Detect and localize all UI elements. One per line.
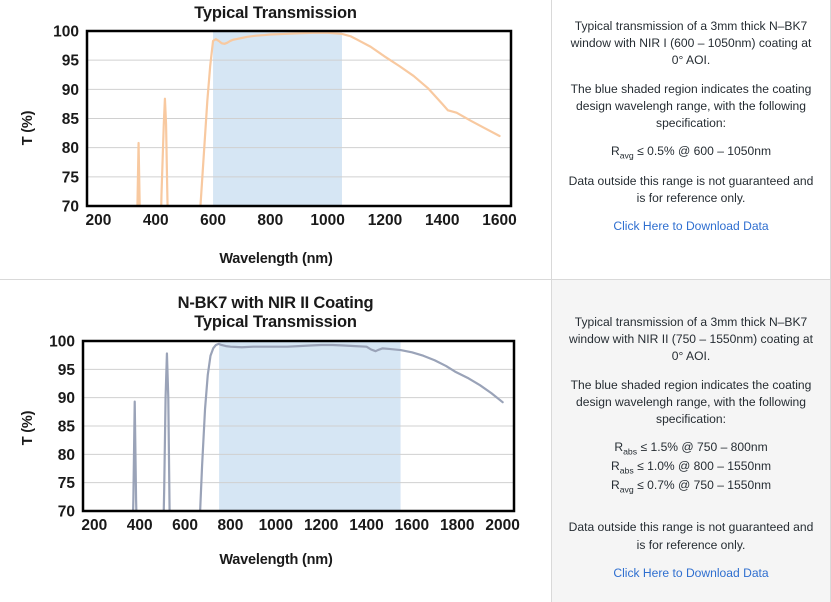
- x-tick-label: 400: [143, 212, 169, 229]
- spec-subscript: abs: [620, 465, 634, 475]
- chart-title-nir2: N-BK7 with NIR II Coating Typical Transm…: [0, 280, 551, 333]
- x-tick-label: 400: [127, 517, 153, 534]
- y-tick-label: 70: [62, 199, 79, 216]
- x-tick-label: 800: [257, 212, 283, 229]
- spec-value: ≤ 1.5% @ 750 – 800nm: [637, 440, 768, 454]
- chart-nir2: 7075808590951002004006008001000120014001…: [0, 333, 552, 548]
- chart-title-nir1: Typical Transmission: [0, 0, 551, 23]
- spec-line: Ravg ≤ 0.5% @ 600 – 1050nm: [566, 143, 816, 162]
- description-cell-nir2: Typical transmission of a 3mm thick N–BK…: [552, 280, 831, 602]
- x-tick-label: 800: [218, 517, 244, 534]
- spec-line: Rabs ≤ 1.0% @ 800 – 1550nm: [566, 458, 816, 477]
- download-data-link-nir2[interactable]: Click Here to Download Data: [566, 565, 816, 582]
- spec-symbol: R: [611, 478, 620, 492]
- y-tick-label: 100: [53, 24, 79, 41]
- y-tick-label: 70: [58, 503, 75, 520]
- description-paragraph-1: Typical transmission of a 3mm thick N–BK…: [566, 18, 816, 70]
- chart-nir1: 7075808590951002004006008001000120014001…: [0, 23, 552, 238]
- y-axis-label-nir2: T (%): [20, 398, 36, 458]
- description-block-nir2: Typical transmission of a 3mm thick N–BK…: [566, 280, 816, 582]
- x-tick-label: 200: [81, 517, 107, 534]
- chart-title-line-1: N-BK7 with NIR II Coating: [0, 294, 551, 313]
- x-tick-label: 2000: [485, 517, 519, 534]
- x-tick-label: 1200: [304, 517, 338, 534]
- x-tick-label: 1600: [482, 212, 516, 229]
- spec-line: Rabs ≤ 1.5% @ 750 – 800nm: [566, 439, 816, 458]
- description-cell-nir1: Typical transmission of a 3mm thick N–BK…: [552, 0, 831, 279]
- description-block-nir1: Typical transmission of a 3mm thick N–BK…: [566, 0, 816, 235]
- panel-row-nir1: Typical Transmission 7075808590951002004…: [0, 0, 831, 280]
- y-axis-label-nir1: T (%): [20, 98, 36, 158]
- spec-symbol: R: [611, 144, 620, 158]
- description-paragraph-2: The blue shaded region indicates the coa…: [566, 377, 816, 429]
- spec-list-nir1: Ravg ≤ 0.5% @ 600 – 1050nm: [566, 143, 816, 162]
- y-tick-label: 85: [58, 418, 76, 435]
- spec-subscript: avg: [620, 484, 634, 494]
- x-tick-label: 1000: [310, 212, 344, 229]
- chart-cell-nir1: Typical Transmission 7075808590951002004…: [0, 0, 552, 279]
- plot-wrap-nir2: 7075808590951002004006008001000120014001…: [0, 333, 551, 553]
- y-tick-label: 95: [62, 53, 80, 70]
- description-paragraph-3: Data outside this range is not guarantee…: [566, 173, 816, 207]
- description-paragraph-1: Typical transmission of a 3mm thick N–BK…: [566, 314, 816, 366]
- spec-symbol: R: [614, 440, 623, 454]
- x-tick-label: 1800: [440, 517, 474, 534]
- x-tick-label: 600: [200, 212, 226, 229]
- spec-list-nir2: Rabs ≤ 1.5% @ 750 – 800nmRabs ≤ 1.0% @ 8…: [566, 439, 816, 495]
- chart-cell-nir2: N-BK7 with NIR II Coating Typical Transm…: [0, 280, 552, 602]
- y-tick-label: 100: [49, 333, 75, 350]
- spec-subscript: avg: [620, 150, 634, 160]
- download-data-link-nir1[interactable]: Click Here to Download Data: [566, 218, 816, 235]
- description-paragraph-3: Data outside this range is not guarantee…: [566, 519, 816, 553]
- spec-subscript: abs: [623, 446, 637, 456]
- spec-value: ≤ 0.5% @ 600 – 1050nm: [634, 144, 771, 158]
- panel-row-nir2: N-BK7 with NIR II Coating Typical Transm…: [0, 280, 831, 602]
- x-tick-label: 1400: [349, 517, 383, 534]
- y-tick-label: 90: [62, 82, 79, 99]
- spec-line: Ravg ≤ 0.7% @ 750 – 1550nm: [566, 477, 816, 496]
- x-tick-label: 1600: [395, 517, 429, 534]
- x-axis-label-nir1: Wavelength (nm): [0, 251, 552, 267]
- chart-title-line-2: Typical Transmission: [0, 313, 551, 332]
- y-tick-label: 85: [62, 111, 80, 128]
- x-tick-label: 1000: [259, 517, 293, 534]
- y-tick-label: 80: [62, 141, 79, 158]
- x-tick-label: 1400: [425, 212, 459, 229]
- y-tick-label: 75: [62, 170, 80, 187]
- x-tick-label: 600: [172, 517, 198, 534]
- page-root: Typical Transmission 7075808590951002004…: [0, 0, 831, 602]
- description-paragraph-2: The blue shaded region indicates the coa…: [566, 81, 816, 133]
- y-tick-label: 95: [58, 362, 76, 379]
- y-tick-label: 80: [58, 447, 75, 464]
- x-tick-label: 1200: [368, 212, 402, 229]
- plot-wrap-nir1: 7075808590951002004006008001000120014001…: [0, 23, 551, 243]
- spec-symbol: R: [611, 459, 620, 473]
- x-axis-label-nir2: Wavelength (nm): [0, 552, 552, 568]
- y-tick-label: 75: [58, 475, 76, 492]
- y-tick-label: 90: [58, 390, 75, 407]
- x-tick-label: 200: [86, 212, 112, 229]
- spec-value: ≤ 0.7% @ 750 – 1550nm: [634, 478, 771, 492]
- spec-value: ≤ 1.0% @ 800 – 1550nm: [634, 459, 771, 473]
